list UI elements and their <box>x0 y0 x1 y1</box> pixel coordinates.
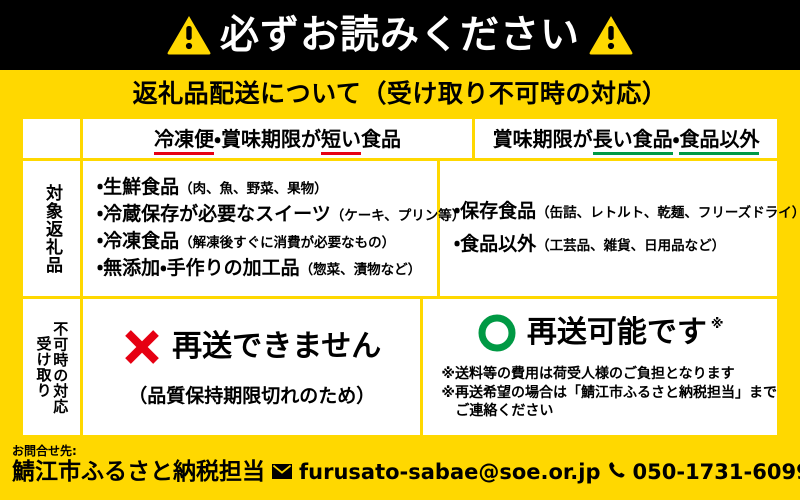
list-item-sub: （惣菜、漬物など） <box>300 262 422 278</box>
row-label-undeliverable-col-right: 受け取り <box>35 336 52 398</box>
footer-contact: お問合せ先: 鯖江市ふるさと納税担当 furusato-sabae@soe.or… <box>0 442 800 500</box>
bullet-list-right: ・保存食品（缶詰、レトルト、乾麺、フリーズドライ） ・食品以外（工芸品、雑貨、日… <box>440 190 800 267</box>
phone-icon <box>608 461 626 483</box>
column-header-short-shelf-life: 冷凍便・賞味期限が短い食品 <box>83 119 475 158</box>
cell-target-items-right: ・保存食品（缶詰、レトルト、乾麺、フリーズドライ） ・食品以外（工芸品、雑貨、日… <box>440 161 800 296</box>
row-label-undeliverable-response: 受け取り 不可時の対応 <box>23 299 83 435</box>
column-header-left-part2: ・賞味期限が <box>214 127 321 151</box>
result-text-right: 再送可能です <box>527 318 707 348</box>
comparison-table: 冷凍便・賞味期限が短い食品 賞味期限が長い食品・食品以外 対象返礼品 ・生鮮食品… <box>20 116 780 438</box>
list-item: ・無添加・手作りの加工品（惣菜、漬物など） <box>97 258 437 280</box>
note-line-continuation: ご連絡ください <box>441 402 777 421</box>
list-item-sub: （缶詰、レトルト、乾麺、フリーズドライ） <box>536 205 800 221</box>
table-header-row: 冷凍便・賞味期限が短い食品 賞味期限が長い食品・食品以外 <box>23 119 777 161</box>
warning-triangle-icon <box>166 14 212 56</box>
warning-triangle-icon <box>588 14 634 56</box>
result-asterisk-right: ※ <box>711 317 724 332</box>
list-item-main: 冷蔵保存が必要なスイーツ <box>103 203 331 225</box>
footer-contact-line: 鯖江市ふるさと納税担当 furusato-sabae@soe.or.jp 050… <box>12 460 788 485</box>
list-item: ・生鮮食品（肉、魚、野菜、果物） <box>97 177 437 199</box>
result-headline-right: 再送可能です ※ <box>423 313 777 353</box>
subtitle-band: 返礼品配送について（受け取り不可時の対応） <box>0 70 800 116</box>
column-header-long-shelf-life: 賞味期限が長い食品・食品以外 <box>475 119 777 158</box>
footer-department: 鯖江市ふるさと納税担当 <box>12 460 265 485</box>
header-band: 必ずお読みください <box>0 0 800 70</box>
list-item-main: 保存食品 <box>460 200 536 222</box>
subtitle-text: 返礼品配送について（受け取り不可時の対応） <box>133 81 668 106</box>
list-item: ・冷凍食品（解凍後すぐに消費が必要なもの） <box>97 231 437 253</box>
x-mark-icon <box>122 327 162 367</box>
column-header-left-part4: 食品 <box>361 127 401 151</box>
note-line-text: ※再送希望の場合は「鯖江市ふるさと納税担当」まで <box>441 385 777 401</box>
row-label-undeliverable-col-left: 不可時の対応 <box>52 321 69 414</box>
table-row: 対象返礼品 ・生鮮食品（肉、魚、野菜、果物） ・冷蔵保存が必要なスイーツ（ケーキ… <box>23 161 777 299</box>
list-item: ・保存食品（缶詰、レトルト、乾麺、フリーズドライ） <box>454 201 800 223</box>
mail-icon <box>272 464 292 483</box>
result-subtext-left: （品質保持期限切れのため） <box>128 381 375 408</box>
cell-target-items-left: ・生鮮食品（肉、魚、野菜、果物） ・冷蔵保存が必要なスイーツ（ケーキ、プリン等）… <box>83 161 440 296</box>
column-header-right-part2: 長い食品 <box>593 127 673 155</box>
cell-result-left: 再送できません （品質保持期限切れのため） <box>83 299 423 435</box>
result-notes-right: ※送料等の費用は荷受人様のご負担となります ※再送希望の場合は「鯖江市ふるさと納… <box>423 365 777 422</box>
result-headline-left: 再送できません <box>83 327 420 367</box>
bullet-list-left: ・生鮮食品（肉、魚、野菜、果物） ・冷蔵保存が必要なスイーツ（ケーキ、プリン等）… <box>83 172 437 284</box>
page-title: 必ずお読みください <box>220 16 580 55</box>
footer-label: お問合せ先: <box>12 444 788 458</box>
list-item-main: 生鮮食品 <box>103 176 179 198</box>
list-item-sub: （肉、魚、野菜、果物） <box>179 181 328 197</box>
row-label-target-items-text: 対象返礼品 <box>42 184 61 274</box>
note-line-text: ※送料等の費用は荷受人様のご負担となります <box>441 366 734 382</box>
column-header-left-part1: 冷凍便 <box>154 127 214 155</box>
table-row: 受け取り 不可時の対応 再送できません （品質保持期限切れのため） <box>23 299 777 435</box>
column-header-left-text: 冷凍便・賞味期限が短い食品 <box>154 128 401 150</box>
list-item-main: 無添加・手作りの加工品 <box>103 257 299 279</box>
row-label-target-items: 対象返礼品 <box>23 161 83 296</box>
list-item-main: 食品以外 <box>460 233 536 255</box>
list-item: ・食品以外（工芸品、雑貨、日用品など） <box>454 234 800 256</box>
table-corner-cell <box>23 119 83 158</box>
footer-phone[interactable]: 050-1731-6099 <box>633 461 800 484</box>
list-item-sub: （工芸品、雑貨、日用品など） <box>536 238 725 254</box>
list-item: ・冷蔵保存が必要なスイーツ（ケーキ、プリン等） <box>97 204 437 226</box>
column-header-right-part1: 賞味期限が <box>493 127 593 151</box>
column-header-right-part4: 食品以外 <box>679 127 759 155</box>
list-item-sub: （解凍後すぐに消費が必要なもの） <box>179 235 395 251</box>
note-line: ※再送希望の場合は「鯖江市ふるさと納税担当」まで ご連絡ください <box>441 384 777 422</box>
note-line: ※送料等の費用は荷受人様のご負担となります <box>441 365 777 384</box>
footer-email[interactable]: furusato-sabae@soe.or.jp <box>299 461 601 484</box>
result-text-left: 再送できません <box>172 332 381 362</box>
column-header-left-part3: 短い <box>321 127 361 155</box>
column-header-right-text: 賞味期限が長い食品・食品以外 <box>493 128 760 150</box>
list-item-main: 冷凍食品 <box>103 230 179 252</box>
cell-result-right: 再送可能です ※ ※送料等の費用は荷受人様のご負担となります ※再送希望の場合は… <box>423 299 777 435</box>
notice-poster: 必ずお読みください 返礼品配送について（受け取り不可時の対応） 冷凍便・賞味期限… <box>0 0 800 500</box>
circle-mark-icon <box>477 313 517 353</box>
